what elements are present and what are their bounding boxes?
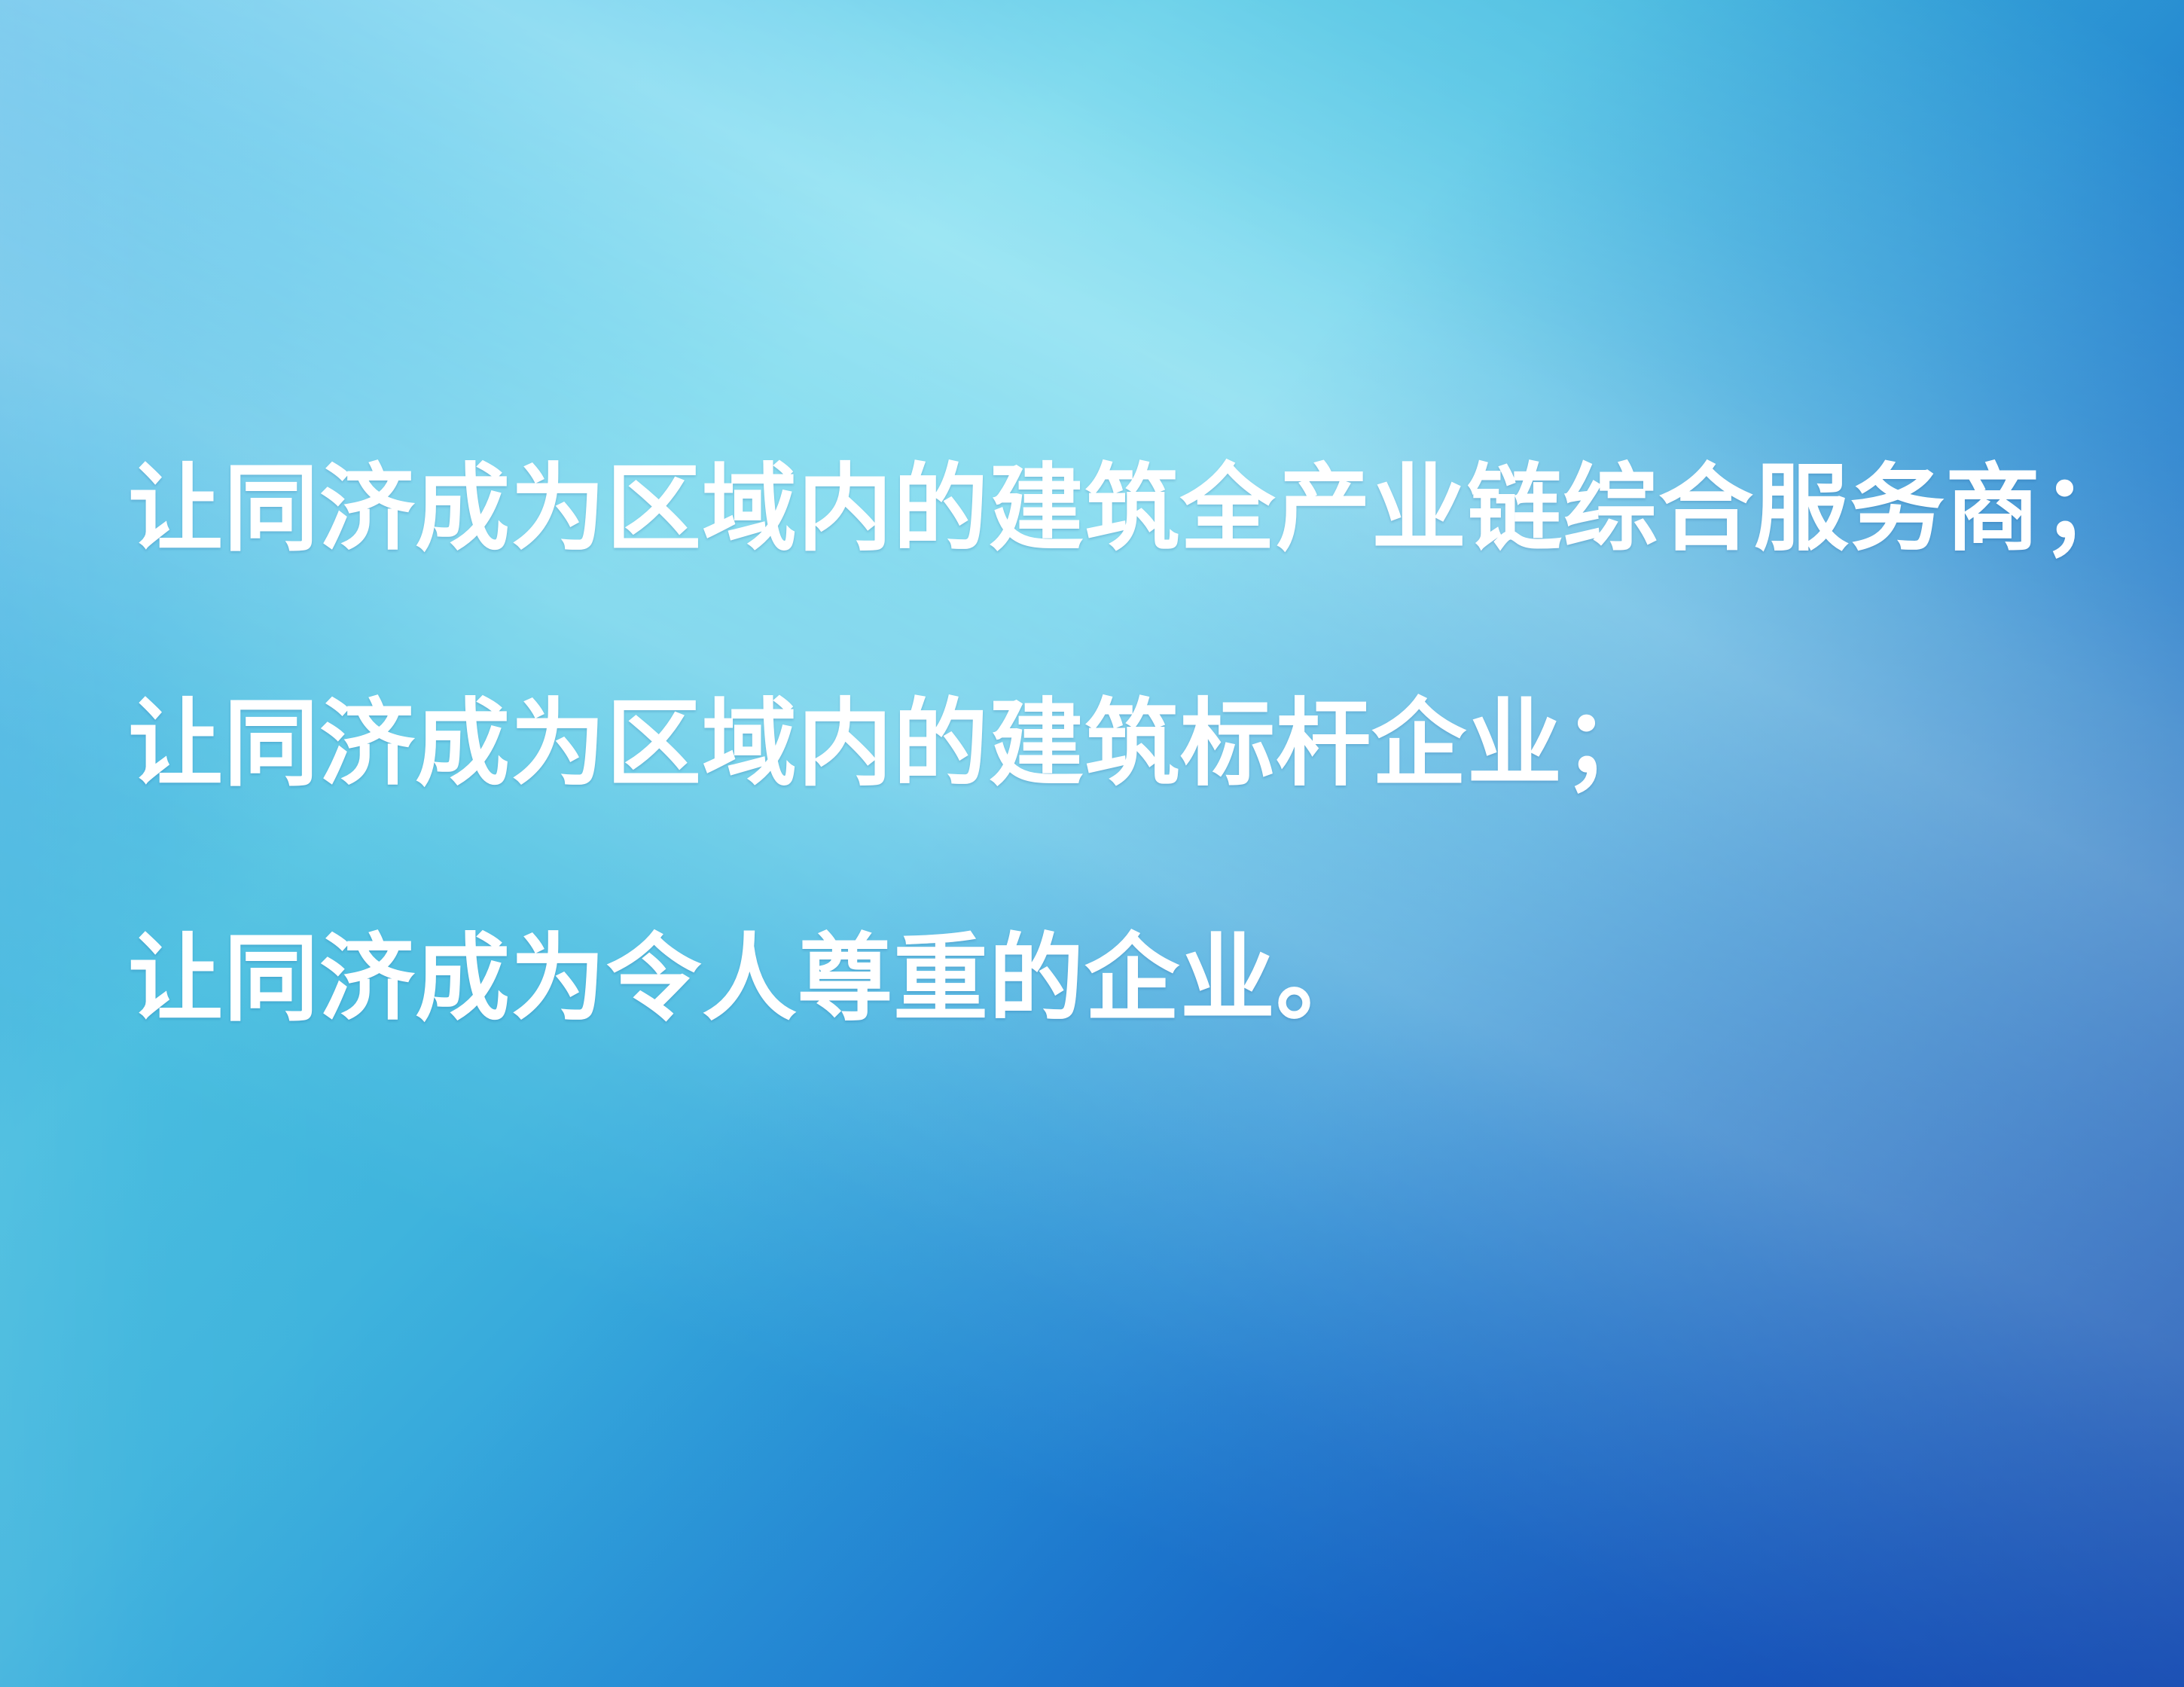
vision-line-3: 让同济成为令人尊重的企业。: [128, 931, 2116, 1026]
vision-line-2: 让同济成为区域内的建筑标杆企业；: [128, 696, 2116, 791]
vision-slide: 让同济成为区域内的建筑全产业链综合服务商； 让同济成为区域内的建筑标杆企业； 让…: [0, 0, 2184, 1687]
vision-statement-block: 让同济成为区域内的建筑全产业链综合服务商； 让同济成为区域内的建筑标杆企业； 让…: [128, 461, 2116, 1026]
vision-line-1: 让同济成为区域内的建筑全产业链综合服务商；: [128, 461, 2116, 556]
